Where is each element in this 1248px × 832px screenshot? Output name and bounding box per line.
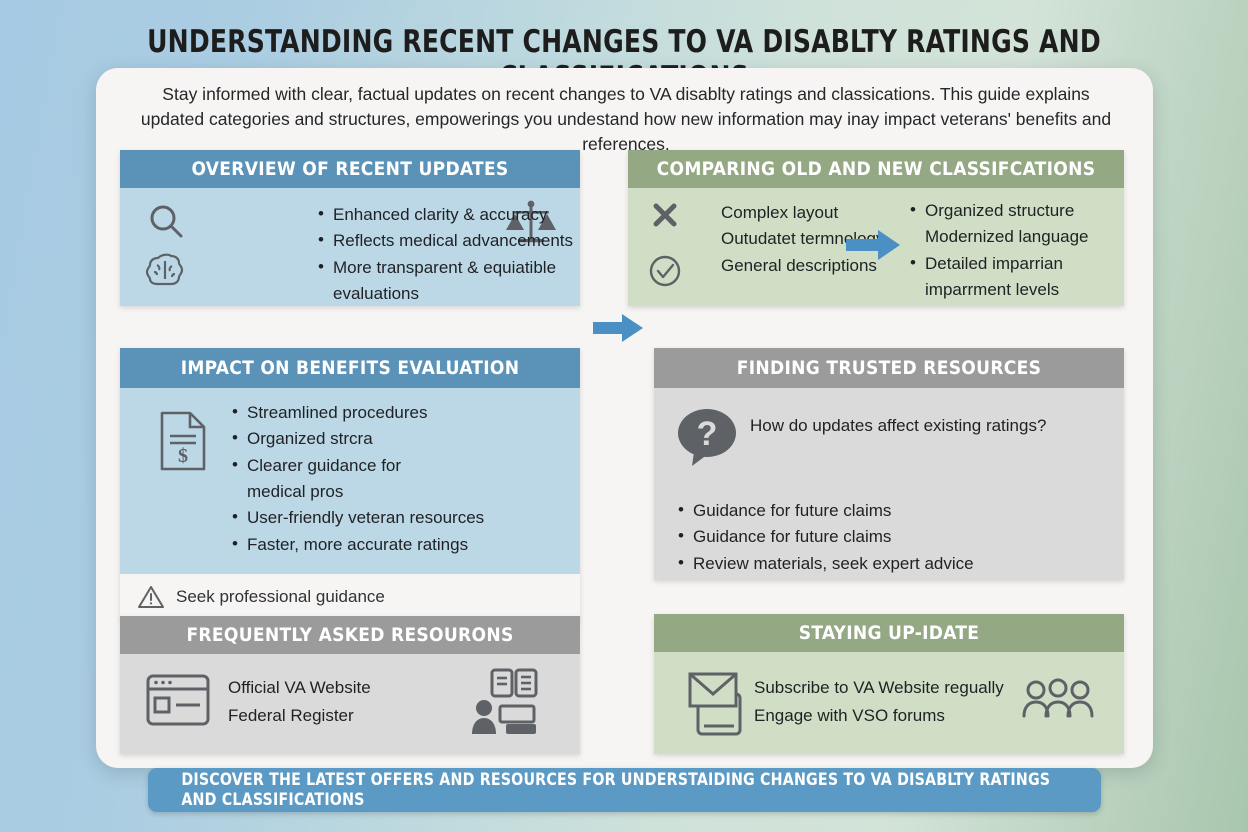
connector-arrow-icon — [593, 312, 645, 344]
content-panel: Stay informed with clear, factual update… — [96, 68, 1153, 768]
card-overview-heading: OVERVIEW OF RECENT UPDATES — [120, 150, 580, 188]
list-item: medical pros — [230, 479, 484, 505]
card-impact-body: $ Streamlined procedures Organized strcr… — [120, 388, 580, 574]
overview-list: Enhanced clarity & accuracy Reflects med… — [316, 202, 580, 306]
list-item: Reflects medical advancements — [316, 228, 580, 254]
impact-footer-note-row: Seek professional guidance — [120, 574, 580, 620]
magnifier-icon — [146, 202, 186, 242]
check-circle-icon — [648, 254, 682, 288]
list-item: Organized strcra — [230, 426, 484, 452]
card-frequently-asked[interactable]: FREQUENTLY ASKED RESOURONS Official VA W… — [120, 616, 580, 754]
list-item: Review materials, seek expert advice — [676, 551, 974, 577]
card-resources-heading: FINDING TRUSTED RESOURCES — [654, 348, 1124, 388]
impact-list: Streamlined procedures Organized strcra … — [230, 400, 484, 558]
list-item: Clearer guidance for — [230, 453, 484, 479]
faq-line-2: Federal Register — [228, 702, 371, 730]
card-finding-trusted-resources[interactable]: FINDING TRUSTED RESOURCES ? How do updat… — [654, 348, 1124, 580]
list-item: Detailed imparrian — [908, 251, 1118, 277]
list-item: Faster, more accurate ratings — [230, 532, 484, 558]
list-item: Guidance for future claims — [676, 524, 974, 550]
right-arrow-icon — [846, 228, 902, 262]
svg-text:?: ? — [697, 415, 718, 453]
card-resources-body: ? How do updates affect existing ratings… — [654, 388, 1124, 580]
envelope-tablet-icon — [688, 670, 750, 736]
group-people-icon — [1022, 678, 1094, 720]
list-item: imparrment levels — [908, 277, 1118, 303]
card-staying-up-to-date[interactable]: STAYING UP-IDATE Subscribe to VA Website… — [654, 614, 1124, 754]
card-faq-body: Official VA Website Federal Register — [120, 654, 580, 754]
card-overview-body: Enhanced clarity & accuracy Reflects med… — [120, 188, 580, 306]
question-bubble-icon: ? — [676, 406, 738, 468]
resources-question: How do updates affect existing ratings? — [750, 412, 1050, 440]
intro-paragraph: Stay informed with clear, factual update… — [134, 82, 1118, 157]
staying-line-2: Engage with VSO forums — [754, 702, 1004, 730]
resources-list: Guidance for future claims Guidance for … — [676, 498, 974, 577]
svg-text:$: $ — [178, 445, 188, 467]
faq-line-1: Official VA Website — [228, 674, 371, 702]
card-faq-heading: FREQUENTLY ASKED RESOURONS — [120, 616, 580, 654]
faq-lines: Official VA Website Federal Register — [228, 674, 371, 730]
person-presenting-icon — [468, 668, 538, 736]
footer-text: DISCOVER THE LATEST OFFERS AND RESOURCES… — [181, 770, 1067, 810]
card-compare-body: Complex layout Outudatet termnology Gene… — [628, 188, 1124, 306]
document-dollar-icon: $ — [158, 410, 208, 472]
list-item: User-friendly veteran resources — [230, 505, 484, 531]
card-staying-heading: STAYING UP-IDATE — [654, 614, 1124, 652]
x-mark-icon — [650, 200, 680, 230]
list-item: Streamlined procedures — [230, 400, 484, 426]
infographic-canvas: UNDERSTANDING RECENT CHANGES TO VA DISAB… — [0, 0, 1248, 832]
list-item: Organized structure — [908, 198, 1118, 224]
card-compare-heading: COMPARING OLD AND NEW CLASSIFCATIONS — [628, 150, 1124, 188]
list-item: Guidance for future claims — [676, 498, 974, 524]
warning-triangle-icon — [138, 585, 164, 609]
card-comparing-old-and-new[interactable]: COMPARING OLD AND NEW CLASSIFCATIONS Com… — [628, 150, 1124, 306]
browser-window-icon — [146, 674, 210, 726]
footer-banner[interactable]: DISCOVER THE LATEST OFFERS AND RESOURCES… — [148, 768, 1101, 812]
list-item: More transparent & equiatible evaluation… — [316, 255, 580, 306]
card-impact-heading: IMPACT ON BENEFITS EVALUATION — [120, 348, 580, 388]
staying-lines: Subscribe to VA Website regually Engage … — [754, 674, 1004, 730]
brain-icon — [144, 250, 186, 290]
staying-line-1: Subscribe to VA Website regually — [754, 674, 1004, 702]
compare-new-list: Organized structure Modernized language … — [908, 198, 1118, 303]
card-overview-of-recent-updates[interactable]: OVERVIEW OF RECENT UPDATES — [120, 150, 580, 306]
list-item: Modernized language — [908, 224, 1118, 250]
card-staying-body: Subscribe to VA Website regually Engage … — [654, 652, 1124, 754]
list-item: Enhanced clarity & accuracy — [316, 202, 580, 228]
impact-footer-note: Seek professional guidance — [176, 587, 385, 607]
card-impact-on-benefits[interactable]: IMPACT ON BENEFITS EVALUATION $ Streamli… — [120, 348, 580, 620]
